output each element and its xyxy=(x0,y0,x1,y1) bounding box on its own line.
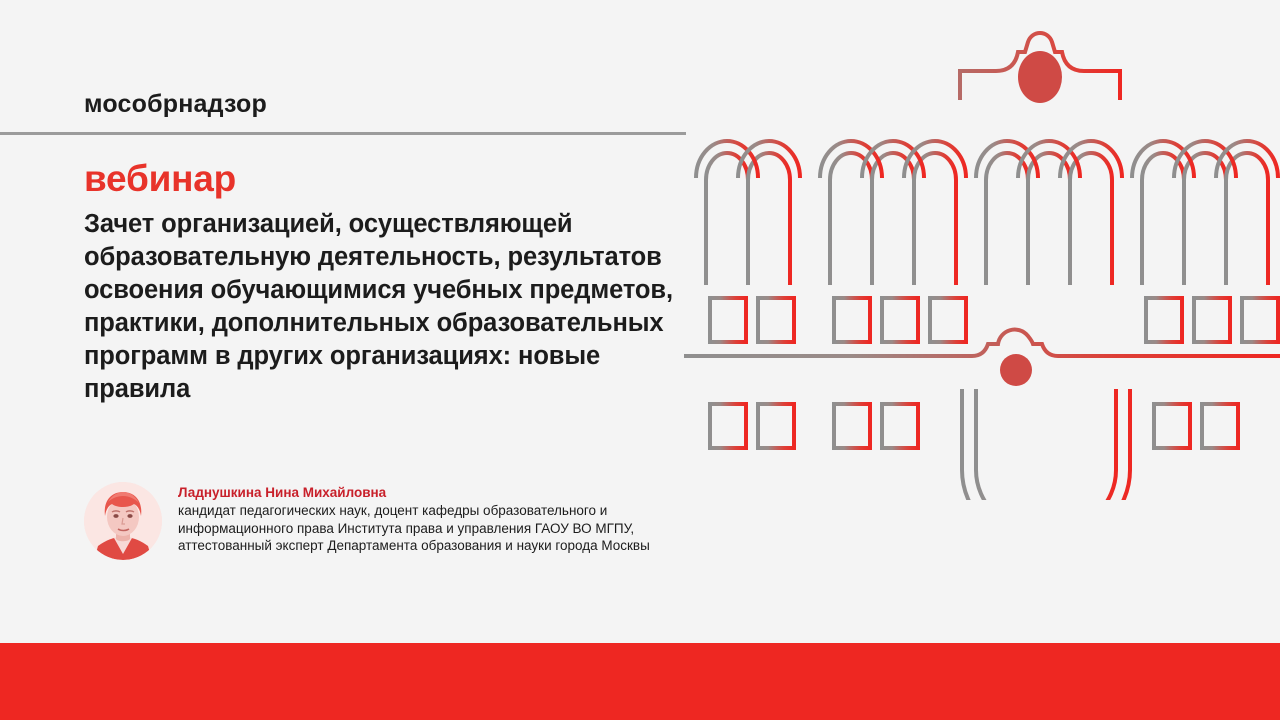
central-portico xyxy=(962,389,1130,500)
page-title: Зачет организацией, осуществляющей образ… xyxy=(84,208,684,406)
arch-group-1 xyxy=(694,141,802,285)
footer-bar: mosobrnadzor.ru xyxy=(0,643,1280,720)
webinar-label: вебинар xyxy=(84,158,236,200)
header-divider xyxy=(0,132,686,135)
brand-name: мособрнадзор xyxy=(84,90,267,119)
speaker-info: Ладнушкина Нина Михайловна кандидат педа… xyxy=(178,482,668,555)
webinar-announcement-slide: мособрнадзор вебинар Зачет организацией,… xyxy=(0,0,1280,720)
avatar xyxy=(84,482,162,560)
speaker-name: Ладнушкина Нина Михайловна xyxy=(178,484,668,501)
building-pediment xyxy=(960,33,1120,100)
arch-group-2 xyxy=(818,141,968,285)
square-window-row-2 xyxy=(710,404,1238,448)
arch-group-4 xyxy=(1130,141,1280,285)
square-window-row-1 xyxy=(710,298,1278,342)
speaker-block: Ладнушкина Нина Михайловна кандидат педа… xyxy=(84,482,684,560)
speaker-credentials: кандидат педагогических наук, доцент каф… xyxy=(178,502,668,555)
mid-cornice xyxy=(684,330,1280,389)
mosobrnadzor-building-illustration xyxy=(680,0,1280,500)
pediment-medallion xyxy=(1018,51,1062,103)
arch-group-3 xyxy=(974,141,1124,285)
mid-cornice-medallion xyxy=(1000,354,1032,386)
